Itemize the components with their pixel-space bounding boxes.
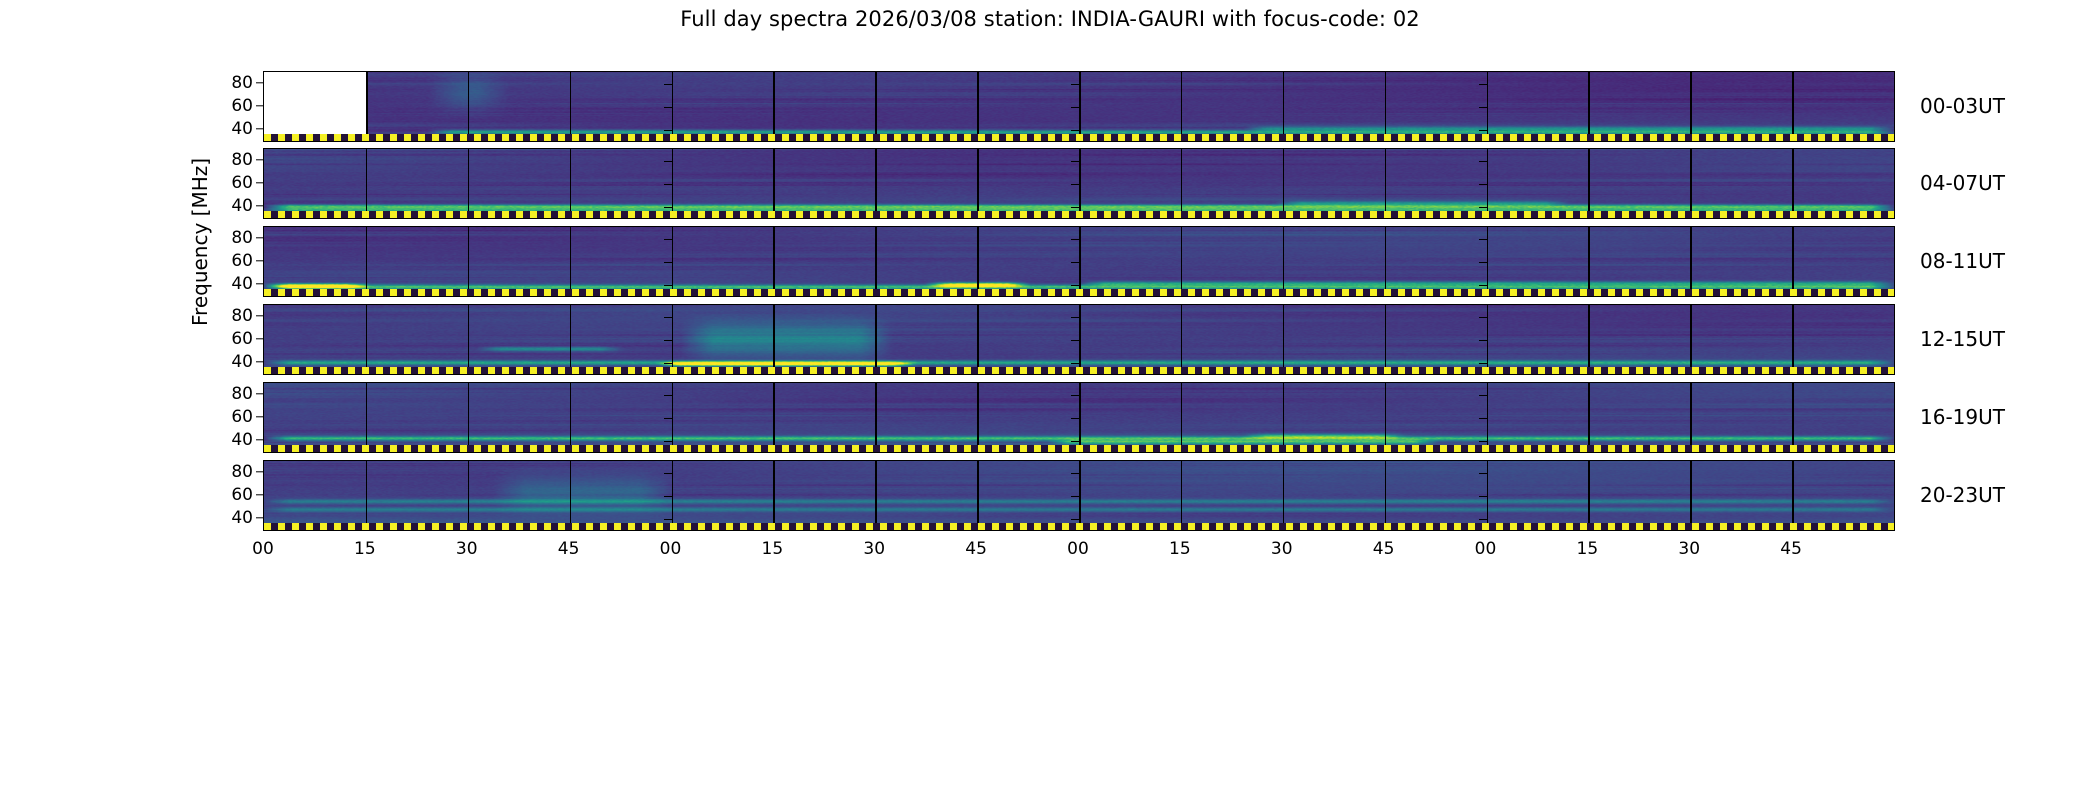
y-tick-label: 60 — [207, 485, 253, 505]
x-tick-label: 15 — [1577, 539, 1599, 559]
y-tick-label: 80 — [207, 384, 253, 404]
y-tick-label: 60 — [207, 407, 253, 427]
x-tick-label: 00 — [1475, 539, 1497, 559]
spectrogram-panel — [263, 460, 1895, 531]
y-tick-mark — [256, 416, 263, 417]
y-tick-label: 40 — [207, 274, 253, 294]
y-tick-mark — [256, 361, 263, 362]
x-tick-label: 45 — [1780, 539, 1802, 559]
row-label-12-15ut: 12-15UT — [1920, 327, 2005, 351]
y-tick-mark — [256, 315, 263, 316]
x-tick-label: 45 — [965, 539, 987, 559]
y-tick-label: 60 — [207, 173, 253, 193]
x-tick-label: 30 — [863, 539, 885, 559]
row-label-20-23ut: 20-23UT — [1920, 483, 2005, 507]
y-tick-label: 40 — [207, 430, 253, 450]
y-tick-mark — [256, 439, 263, 440]
spectrogram-figure: Full day spectra 2026/03/08 station: IND… — [0, 0, 2100, 800]
y-tick-mark — [256, 471, 263, 472]
x-tick-label: 15 — [354, 539, 376, 559]
row-label-00-03ut: 00-03UT — [1920, 94, 2005, 118]
row-label-16-19ut: 16-19UT — [1920, 405, 2005, 429]
spectrogram-image — [264, 305, 1894, 374]
y-tick-label: 80 — [207, 150, 253, 170]
y-tick-mark — [256, 260, 263, 261]
x-tick-label: 45 — [1373, 539, 1395, 559]
y-tick-mark — [256, 82, 263, 83]
y-tick-label: 40 — [207, 196, 253, 216]
x-tick-label: 30 — [1678, 539, 1700, 559]
spectrogram-panel — [263, 148, 1895, 219]
x-tick-label: 15 — [762, 539, 784, 559]
x-tick-label: 15 — [1169, 539, 1191, 559]
x-tick-label: 30 — [456, 539, 478, 559]
y-tick-label: 40 — [207, 508, 253, 528]
row-label-08-11ut: 08-11UT — [1920, 249, 2005, 273]
y-tick-label: 80 — [207, 462, 253, 482]
x-tick-label: 00 — [1067, 539, 1089, 559]
y-tick-mark — [256, 105, 263, 106]
y-tick-label: 40 — [207, 119, 253, 139]
y-tick-mark — [256, 205, 263, 206]
y-tick-mark — [256, 393, 263, 394]
y-tick-mark — [256, 237, 263, 238]
spectrogram-image — [264, 461, 1894, 530]
y-tick-mark — [256, 338, 263, 339]
spectrogram-image — [264, 383, 1894, 452]
y-tick-mark — [256, 494, 263, 495]
y-tick-label: 60 — [207, 329, 253, 349]
x-tick-label: 00 — [252, 539, 274, 559]
spectrogram-panel — [263, 382, 1895, 453]
page-title: Full day spectra 2026/03/08 station: IND… — [0, 7, 2100, 31]
x-tick-label: 00 — [660, 539, 682, 559]
spectrogram-panel — [263, 226, 1895, 297]
y-tick-label: 60 — [207, 251, 253, 271]
y-tick-mark — [256, 128, 263, 129]
y-tick-mark — [256, 283, 263, 284]
y-tick-label: 80 — [207, 73, 253, 93]
spectrogram-panel — [263, 71, 1895, 142]
spectrogram-image — [264, 227, 1894, 296]
y-tick-label: 40 — [207, 352, 253, 372]
y-tick-mark — [256, 159, 263, 160]
y-tick-mark — [256, 182, 263, 183]
x-tick-label: 45 — [558, 539, 580, 559]
y-tick-label: 80 — [207, 228, 253, 248]
x-tick-label: 30 — [1271, 539, 1293, 559]
spectrogram-image — [264, 149, 1894, 218]
spectrogram-image — [264, 72, 1894, 141]
y-tick-label: 80 — [207, 306, 253, 326]
spectrogram-panel — [263, 304, 1895, 375]
row-label-04-07ut: 04-07UT — [1920, 171, 2005, 195]
y-tick-mark — [256, 517, 263, 518]
y-tick-label: 60 — [207, 96, 253, 116]
